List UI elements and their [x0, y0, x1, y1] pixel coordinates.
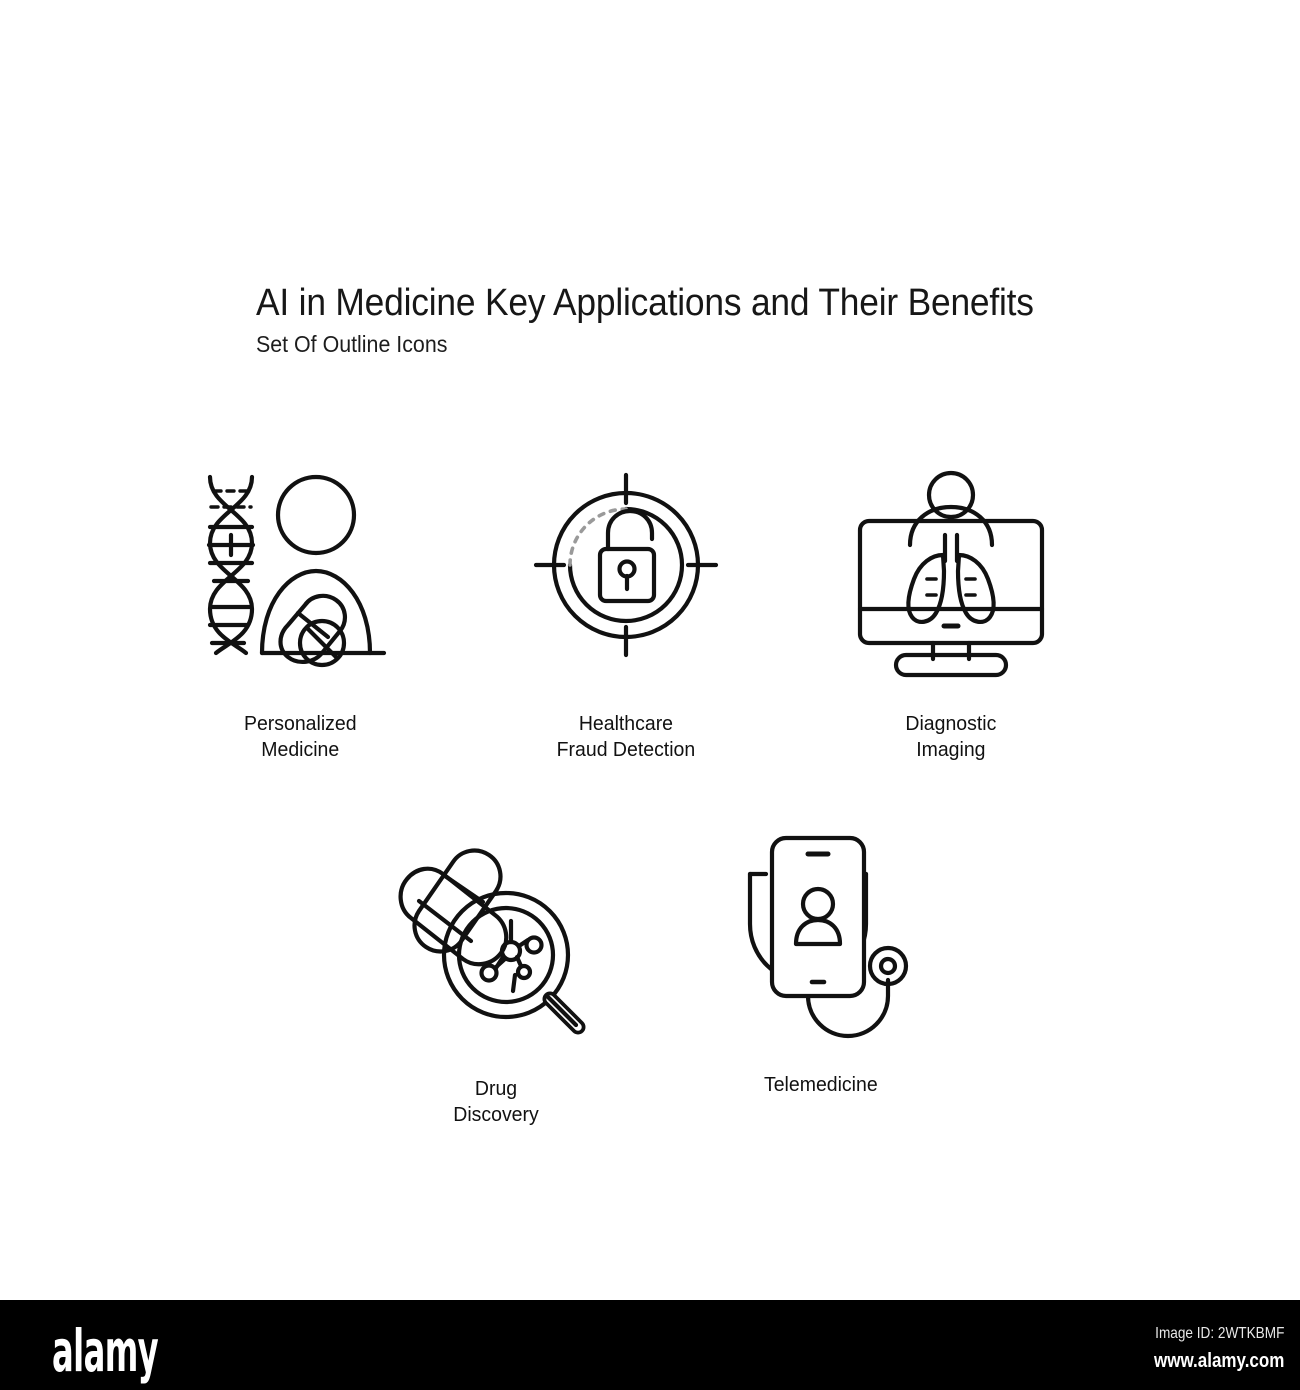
icon-grid-row-1: Personalized Medicine [138, 462, 1168, 763]
smartphone-stethoscope-icon [706, 833, 936, 1038]
icon-caption-telemedicine: Telemedicine [764, 1072, 878, 1098]
stock-image-canvas: AI in Medicine Key Applications and Thei… [0, 0, 1300, 1300]
icon-caption-healthcare-fraud-detection: Healthcare Fraud Detection [556, 711, 695, 763]
caption-line-1: Drug [474, 1077, 516, 1100]
caption-line-2: Imaging [905, 737, 996, 763]
page-subtitle: Set Of Outline Icons [256, 329, 1093, 359]
icon-grid-row-2: Drug Discovery [333, 833, 1033, 1128]
alamy-footer-bar: alamy Image ID: 2WTKBMF www.alamy.com [0, 1300, 1300, 1390]
heading-block: AI in Medicine Key Applications and Thei… [256, 281, 1156, 359]
caption-line-2: Discovery [453, 1102, 539, 1128]
caption-line-1: Healthcare [578, 712, 672, 735]
caption-line-1: Telemedicine [764, 1073, 878, 1096]
icon-caption-diagnostic-imaging: Diagnostic Imaging [905, 711, 996, 763]
monitor-lungs-scan-icon [836, 462, 1066, 667]
caption-line-1: Diagnostic [905, 712, 996, 735]
icon-caption-personalized-medicine: Personalized Medicine [244, 711, 357, 763]
image-id-label: Image ID: 2WTKBMF [1154, 1324, 1284, 1344]
icon-cell-diagnostic-imaging[interactable]: Diagnostic Imaging [788, 462, 1113, 763]
icon-cell-drug-discovery[interactable]: Drug Discovery [333, 833, 658, 1128]
caption-line-1: Personalized [244, 712, 357, 735]
alamy-logo: alamy [52, 1323, 158, 1381]
page-title: AI in Medicine Key Applications and Thei… [256, 281, 1093, 325]
icon-cell-telemedicine[interactable]: Telemedicine [658, 833, 983, 1128]
caption-line-2: Fraud Detection [556, 737, 695, 763]
capsules-magnifier-molecule-icon [381, 833, 611, 1038]
icon-cell-personalized-medicine[interactable]: Personalized Medicine [138, 462, 463, 763]
alamy-url-label: www.alamy.com [1154, 1348, 1284, 1374]
icon-cell-healthcare-fraud-detection[interactable]: Healthcare Fraud Detection [463, 462, 788, 763]
icon-caption-drug-discovery: Drug Discovery [453, 1076, 539, 1128]
caption-line-2: Medicine [244, 737, 357, 763]
footer-meta: Image ID: 2WTKBMF www.alamy.com [1131, 1324, 1284, 1374]
dna-person-pills-icon [186, 462, 416, 667]
target-unlocked-padlock-icon [511, 462, 741, 667]
